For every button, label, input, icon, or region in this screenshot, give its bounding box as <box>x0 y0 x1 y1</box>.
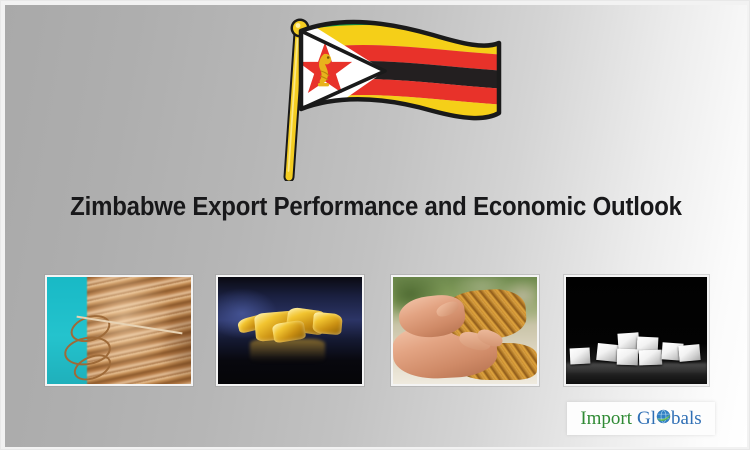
sugar-cube <box>639 349 662 365</box>
sugar-cube <box>570 347 591 364</box>
logo-word-import: Import <box>580 409 632 428</box>
slide-canvas: Zimbabwe Export Performance and Economic… <box>0 0 750 450</box>
sugar-surface <box>566 363 707 384</box>
logo-word-gl: Gl <box>637 409 656 428</box>
page-title: Zimbabwe Export Performance and Economic… <box>24 193 729 222</box>
sugar-cubes-photo <box>564 275 709 386</box>
flag-cloth <box>293 9 505 143</box>
sugar-cube <box>678 345 700 363</box>
tobacco-leaves-photo <box>391 275 539 386</box>
logo-word-bals: bals <box>671 409 702 428</box>
import-globals-logo[interactable]: Import Gl bals <box>567 402 715 435</box>
sugar-cube <box>616 348 638 365</box>
sugar-cube <box>596 343 619 362</box>
logo-wordmark: Import Gl bals <box>580 409 701 428</box>
gold-nuggets-photo <box>216 275 364 386</box>
zimbabwe-flag <box>273 9 505 181</box>
gold-reflection <box>250 339 325 363</box>
copper-wire-photo <box>45 275 193 386</box>
gold-nugget <box>312 312 343 336</box>
globe-icon <box>656 409 671 424</box>
